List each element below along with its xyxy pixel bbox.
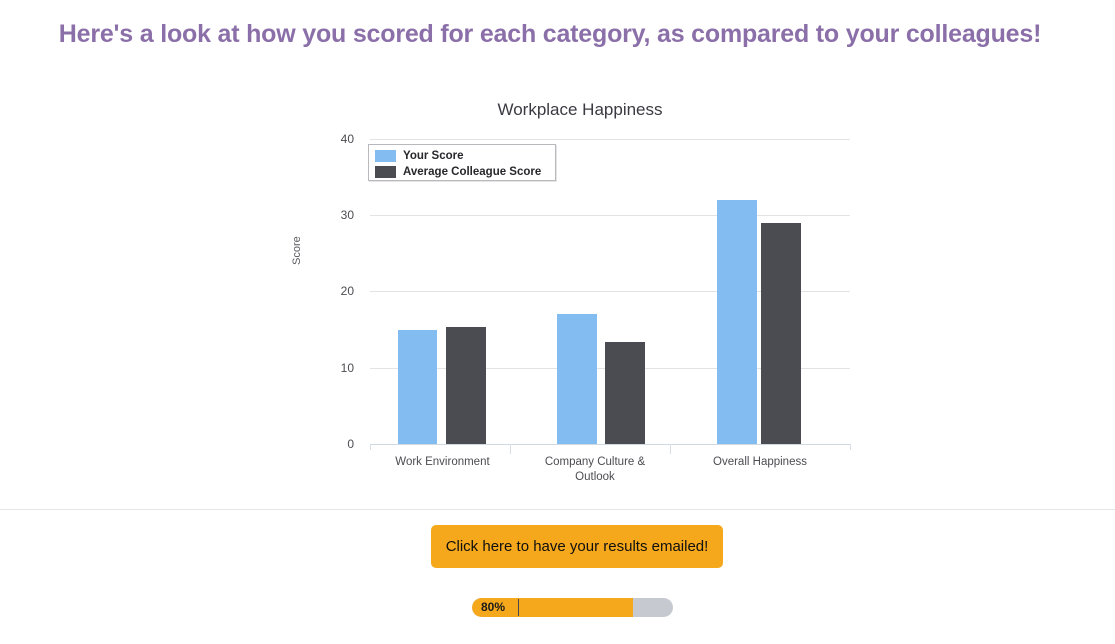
bar-overall-happiness-average-colleague-score <box>761 223 801 444</box>
workplace-happiness-chart: Workplace Happiness 40 30 20 10 0 Score … <box>300 90 860 490</box>
category-label-work-environment: Work Environment <box>365 455 520 470</box>
legend-item-average-colleague-score: Average Colleague Score <box>375 165 555 179</box>
category-separator-start <box>370 444 371 450</box>
email-results-button[interactable]: Click here to have your results emailed! <box>431 525 723 568</box>
gridline-30 <box>370 215 850 216</box>
ytick-label-0: 0 <box>314 444 354 445</box>
category-separator-end <box>850 444 851 450</box>
category-separator-2 <box>670 444 671 454</box>
chart-legend: Your Score Average Colleague Score <box>368 144 556 181</box>
y-axis-label: Score <box>291 236 303 265</box>
ytick-label-10: 10 <box>314 368 354 369</box>
bar-work-environment-average-colleague-score <box>446 327 486 444</box>
legend-label-your-score: Your Score <box>403 150 464 162</box>
ytick-label-30: 30 <box>314 215 354 216</box>
chart-title: Workplace Happiness <box>300 100 860 120</box>
progress-bar: 80% <box>472 598 673 617</box>
bar-work-environment-your-score <box>398 330 437 444</box>
ytick-label-40: 40 <box>314 139 354 140</box>
bar-company-culture-your-score <box>557 314 597 444</box>
legend-label-average-colleague-score: Average Colleague Score <box>403 166 541 178</box>
progress-bar-label: 80% <box>481 598 505 617</box>
legend-swatch-icon-average-colleague-score <box>375 166 396 178</box>
progress-bar-label-divider <box>518 599 519 616</box>
bar-overall-happiness-your-score <box>717 200 757 444</box>
section-divider <box>0 509 1115 510</box>
category-label-overall-happiness: Overall Happiness <box>685 455 835 470</box>
legend-item-your-score: Your Score <box>375 149 555 163</box>
legend-swatch-icon-your-score <box>375 150 396 162</box>
ytick-label-20: 20 <box>314 291 354 292</box>
page-headline: Here's a look at how you scored for each… <box>0 20 1100 49</box>
category-separator-1 <box>510 444 511 454</box>
gridline-40 <box>370 139 850 140</box>
bar-company-culture-average-colleague-score <box>605 342 645 444</box>
axis-baseline <box>370 444 850 445</box>
category-label-company-culture: Company Culture & Outlook <box>525 455 665 485</box>
